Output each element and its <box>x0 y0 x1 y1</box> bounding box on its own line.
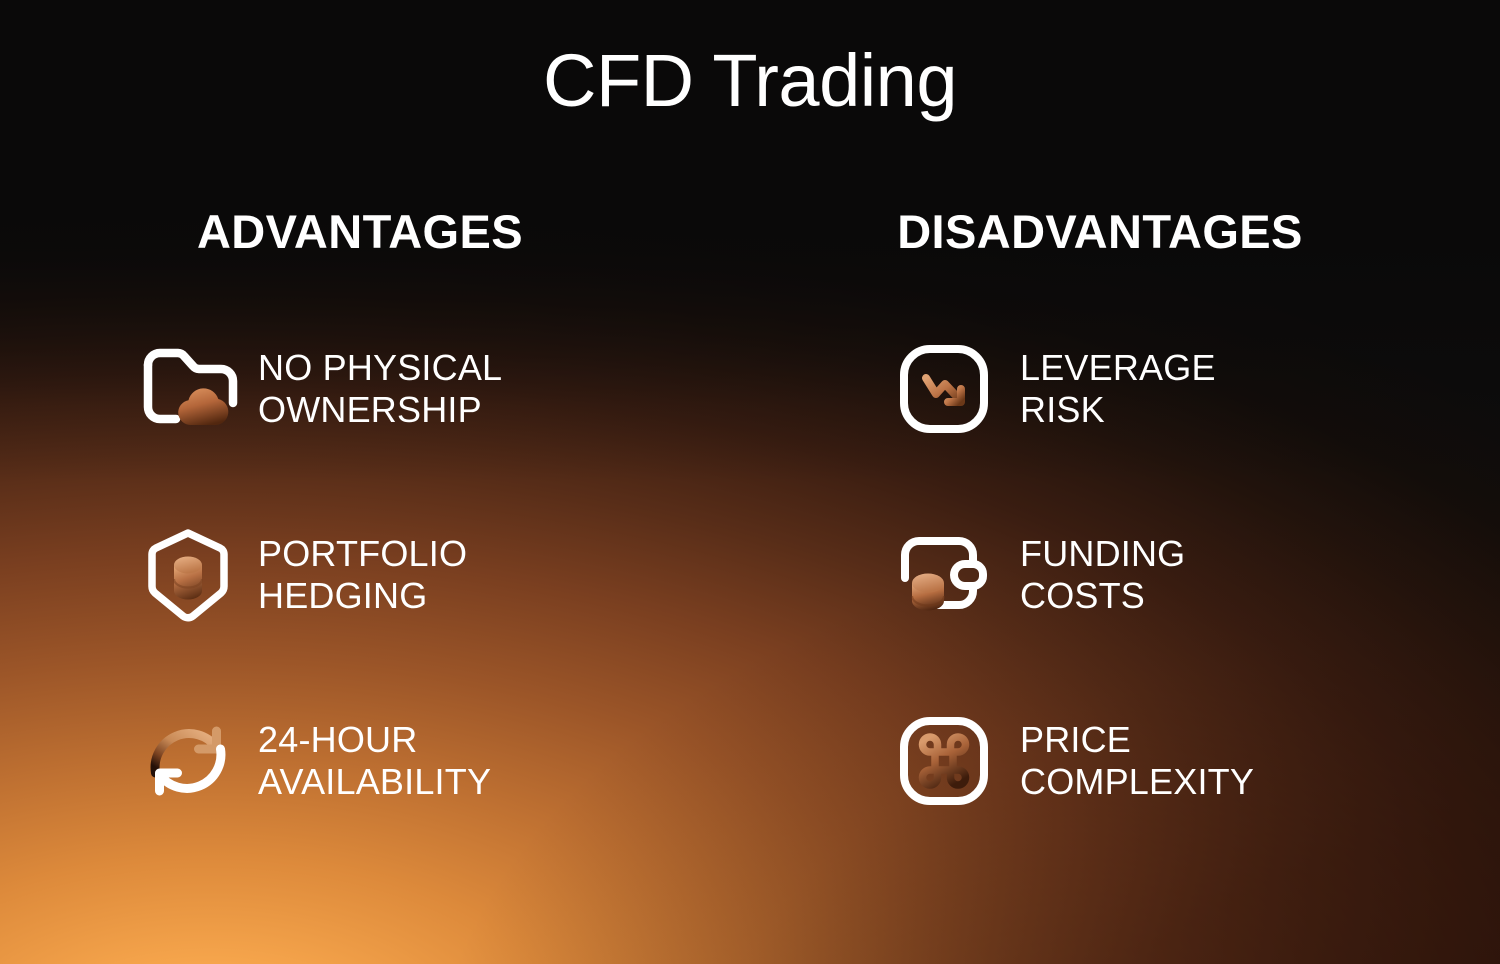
refresh-cycle-icon <box>140 713 236 809</box>
wallet-coin-icon-row[interactable]: FUNDING COSTS <box>800 516 1420 634</box>
downtrend-chart-icon <box>896 341 992 437</box>
list-item[interactable]: LEVERAGE RISK <box>800 330 1420 448</box>
disadvantages-list: LEVERAGE RISK <box>800 330 1420 888</box>
wallet-coin-icon <box>896 527 992 623</box>
list-item[interactable]: PORTFOLIO HEDGING <box>60 516 680 634</box>
page-title: CFD Trading <box>0 44 1500 118</box>
list-item[interactable]: PRICE COMPLEXITY <box>800 702 1420 820</box>
list-item-label: FUNDING COSTS <box>1020 533 1185 617</box>
disadvantages-heading: DISADVANTAGES <box>800 208 1400 255</box>
list-item[interactable]: NO PHYSICAL OWNERSHIP <box>60 330 680 448</box>
folder-cloud-icon <box>140 341 236 437</box>
list-item[interactable]: 24-HOUR AVAILABILITY <box>60 702 680 820</box>
list-item-label: 24-HOUR AVAILABILITY <box>258 719 491 803</box>
list-item-label: PRICE COMPLEXITY <box>1020 719 1254 803</box>
list-item-label: LEVERAGE RISK <box>1020 347 1216 431</box>
infographic-canvas: CFD Trading ADVANTAGES <box>0 0 1500 964</box>
comparison-columns: ADVANTAGES <box>0 0 1500 964</box>
advantages-heading: ADVANTAGES <box>60 208 660 255</box>
advantages-list: NO PHYSICAL OWNERSHIP <box>60 330 680 888</box>
list-item-label: NO PHYSICAL OWNERSHIP <box>258 347 502 431</box>
command-key-icon <box>896 713 992 809</box>
list-item-label: PORTFOLIO HEDGING <box>258 533 467 617</box>
shield-database-icon <box>140 527 236 623</box>
